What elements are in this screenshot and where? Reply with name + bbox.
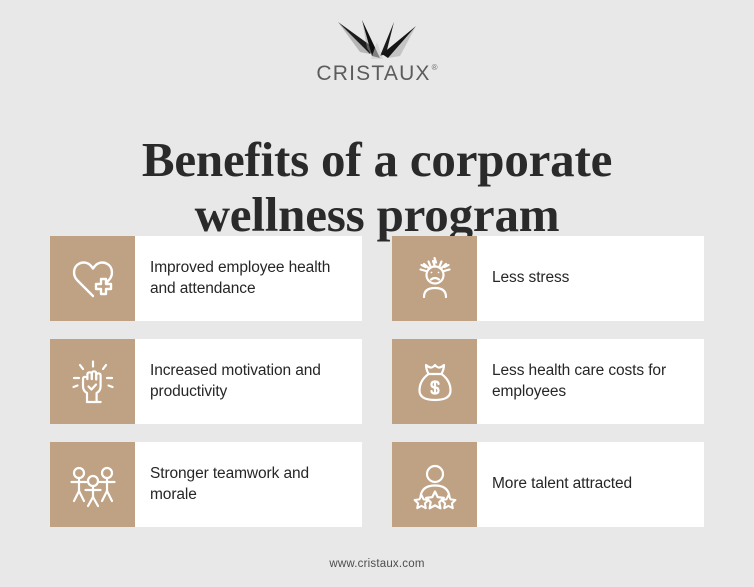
benefit-label: More talent attracted — [492, 474, 632, 495]
benefit-icon-tile — [392, 339, 477, 424]
benefit-card: Less health care costs for employees — [392, 339, 704, 424]
three-people-icon — [68, 460, 118, 510]
benefit-label: Increased motivation and productivity — [150, 361, 348, 402]
benefits-grid: Improved employee health and attendance — [50, 236, 704, 527]
infographic-poster: CRISTAUX ® Benefits of a corporate welln… — [0, 0, 754, 587]
benefit-text-panel: Improved employee health and attendance — [135, 236, 362, 321]
footer-website-url[interactable]: www.cristaux.com — [0, 558, 754, 570]
money-bag-icon — [410, 357, 460, 407]
page-title-line-2: wellness program — [0, 188, 754, 243]
benefit-text-panel: Less stress — [477, 236, 704, 321]
person-with-stars-icon — [410, 460, 460, 510]
raised-fist-icon — [68, 357, 118, 407]
brand-logo: CRISTAUX ® — [0, 18, 754, 84]
brand-wordmark: CRISTAUX ® — [316, 63, 437, 84]
benefit-card: Increased motivation and productivity — [50, 339, 362, 424]
benefit-label: Less stress — [492, 268, 569, 289]
benefit-card: Less stress — [392, 236, 704, 321]
crown-icon — [330, 18, 424, 62]
page-title: Benefits of a corporate wellness program — [0, 133, 754, 243]
benefit-text-panel: Stronger teamwork and morale — [135, 442, 362, 527]
benefit-icon-tile — [392, 236, 477, 321]
registered-trademark-symbol: ® — [432, 64, 438, 72]
benefit-label: Stronger teamwork and morale — [150, 464, 348, 505]
benefit-icon-tile — [392, 442, 477, 527]
page-title-line-1: Benefits of a corporate — [0, 133, 754, 188]
benefit-text-panel: Increased motivation and productivity — [135, 339, 362, 424]
benefit-icon-tile — [50, 236, 135, 321]
benefit-text-panel: Less health care costs for employees — [477, 339, 704, 424]
benefit-label: Less health care costs for employees — [492, 361, 690, 402]
heart-medical-cross-icon — [68, 254, 118, 304]
benefit-card: More talent attracted — [392, 442, 704, 527]
benefit-icon-tile — [50, 339, 135, 424]
stressed-person-icon — [410, 254, 460, 304]
brand-name: CRISTAUX — [316, 63, 430, 84]
benefit-card: Improved employee health and attendance — [50, 236, 362, 321]
benefit-icon-tile — [50, 442, 135, 527]
benefit-label: Improved employee health and attendance — [150, 258, 348, 299]
benefit-text-panel: More talent attracted — [477, 442, 704, 527]
benefit-card: Stronger teamwork and morale — [50, 442, 362, 527]
